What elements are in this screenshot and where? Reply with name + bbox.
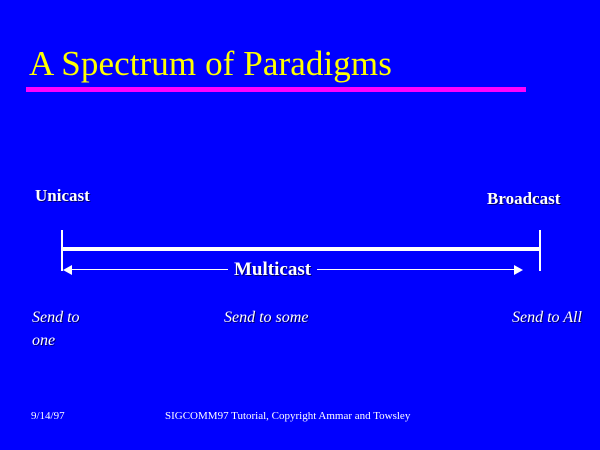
spectrum-bar [61, 247, 541, 251]
spectrum-tick-right [539, 230, 541, 271]
description-right: Send to All [512, 306, 584, 329]
description-left: Send to one [32, 306, 102, 352]
footer-credit: SIGCOMM97 Tutorial, Copyright Ammar and … [165, 410, 410, 422]
arrow-head-right-icon [514, 265, 523, 275]
title-underline-rule [26, 87, 526, 92]
axis-label-multicast: Multicast [228, 259, 317, 281]
arrow-head-left-icon [63, 265, 72, 275]
footer-date: 9/14/97 [31, 410, 65, 422]
endpoint-label-broadcast: Broadcast [487, 189, 560, 209]
slide-title: A Spectrum of Paradigms [29, 44, 392, 84]
slide-canvas: A Spectrum of Paradigms Unicast Broadcas… [0, 0, 600, 450]
description-middle: Send to some [224, 306, 308, 329]
endpoint-label-unicast: Unicast [35, 186, 90, 206]
